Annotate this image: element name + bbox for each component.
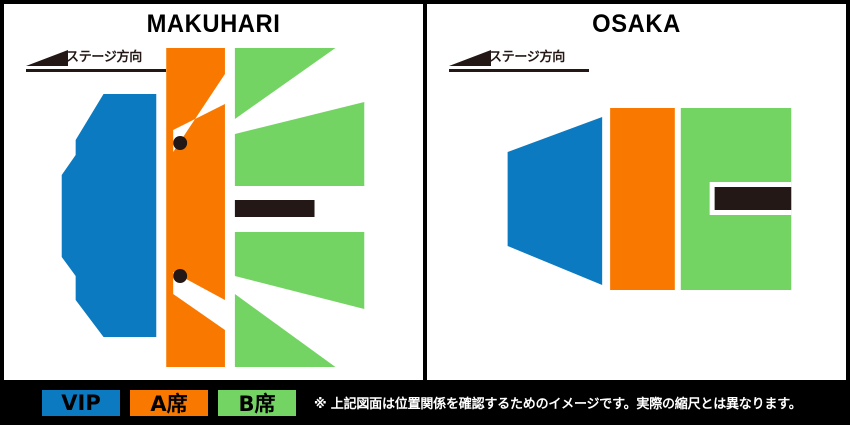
osaka-vip-area[interactable] — [508, 117, 603, 285]
venue-panels: MAKUHARI ステージ方向 — [0, 0, 850, 380]
makuhari-b-seat-lower-right[interactable] — [235, 232, 364, 309]
legend-label-vip: VIP — [61, 391, 100, 415]
osaka-a-seat-area[interactable] — [610, 108, 675, 290]
osaka-sound-booth — [715, 187, 792, 210]
legend-item-b-seat: B席 — [218, 390, 296, 416]
legend-label-a-seat: A席 — [150, 388, 187, 418]
makuhari-entry-point-upper[interactable] — [173, 136, 187, 150]
legend-disclaimer-note: ※ 上記図面は位置関係を確認するためのイメージです。実際の縮尺とは異なります。 — [314, 393, 802, 412]
legend-bar: VIP A席 B席 ※ 上記図面は位置関係を確認するためのイメージです。実際の縮… — [0, 380, 850, 425]
makuhari-b-seat-upper[interactable] — [235, 48, 336, 119]
legend-item-vip: VIP — [42, 390, 120, 416]
legend-item-a-seat: A席 — [130, 390, 208, 416]
makuhari-b-seat-lower[interactable] — [235, 294, 336, 367]
makuhari-sound-booth — [235, 200, 315, 217]
makuhari-entry-point-lower[interactable] — [173, 269, 187, 283]
legend-label-b-seat: B席 — [238, 388, 275, 418]
makuhari-a-seat-area[interactable] — [166, 48, 225, 367]
osaka-seating-diagram — [427, 4, 846, 384]
makuhari-seating-diagram — [4, 4, 423, 384]
makuhari-vip-area[interactable] — [62, 94, 157, 337]
venue-seating-map: MAKUHARI ステージ方向 — [0, 0, 850, 425]
venue-panel-makuhari: MAKUHARI ステージ方向 — [4, 4, 423, 384]
venue-panel-osaka: OSAKA ステージ方向 — [427, 4, 846, 384]
makuhari-b-seat-upper-right[interactable] — [235, 102, 364, 186]
